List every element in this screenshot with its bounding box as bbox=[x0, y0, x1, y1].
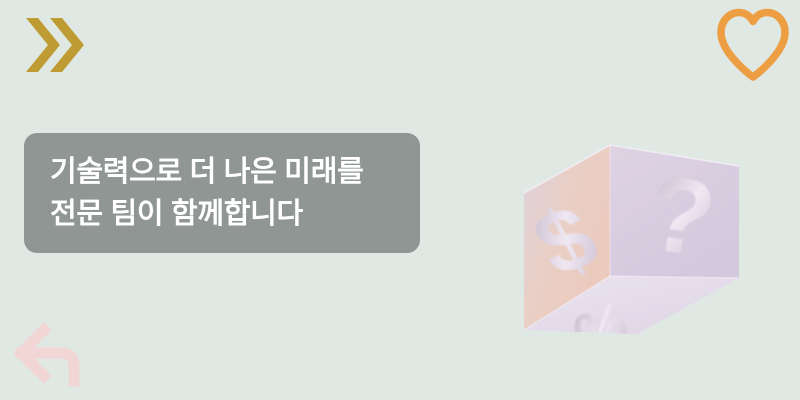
3d-cube-graphic: $ ? % bbox=[505, 88, 775, 348]
undo-arrow-svg bbox=[14, 318, 94, 388]
banner-root: 기술력으로 더 나은 미래를 전문 팀이 함께합니다 bbox=[0, 0, 800, 400]
3d-cube-svg: $ ? % bbox=[505, 88, 775, 348]
double-chevron-right-svg bbox=[24, 14, 86, 76]
double-chevron-right-icon bbox=[24, 14, 86, 76]
cube-face-right: ? bbox=[610, 145, 739, 281]
heart-outline-icon bbox=[714, 6, 792, 82]
headline-plate: 기술력으로 더 나은 미래를 전문 팀이 함께합니다 bbox=[24, 133, 420, 253]
undo-arrow-icon bbox=[14, 318, 94, 388]
headline-line-1: 기술력으로 더 나은 미래를 bbox=[50, 152, 394, 194]
headline-line-2: 전문 팀이 함께합니다 bbox=[50, 194, 394, 236]
heart-outline-svg bbox=[714, 6, 792, 82]
